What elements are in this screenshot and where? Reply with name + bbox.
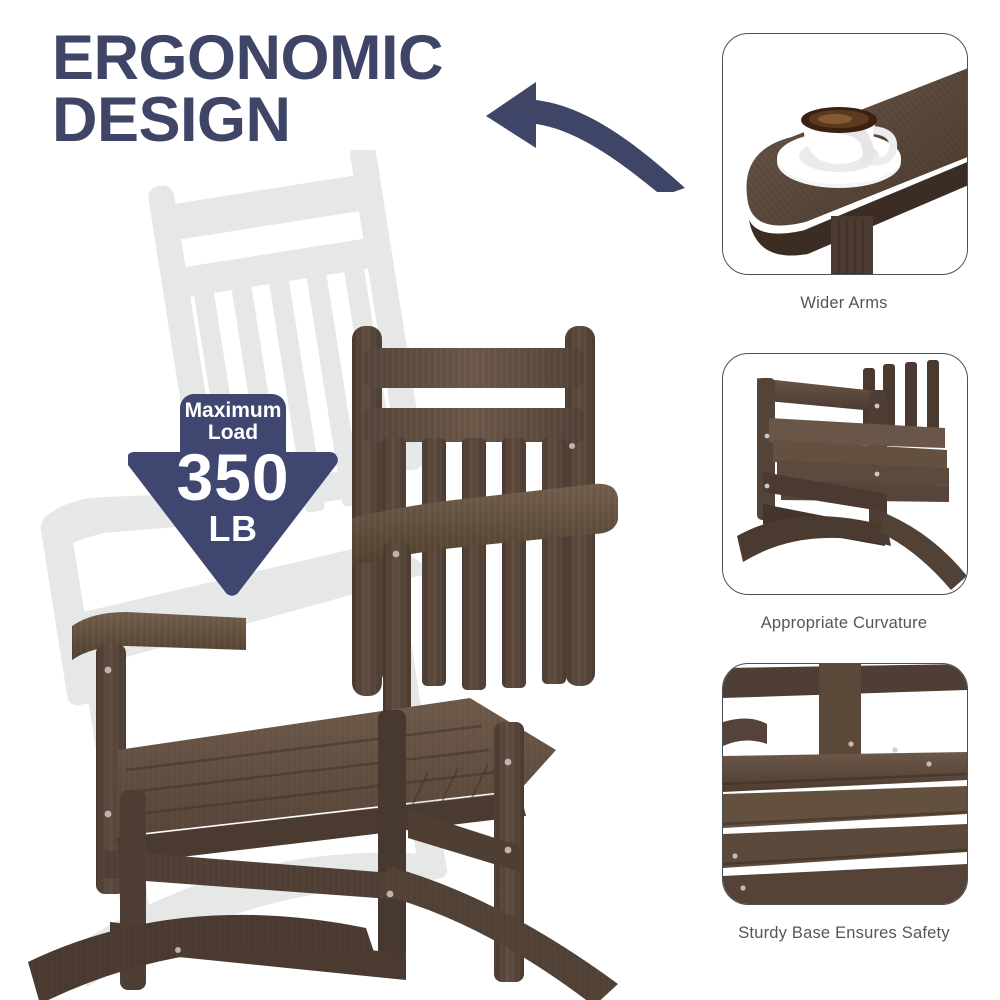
feature-image-sturdy-base xyxy=(722,663,968,905)
infographic-canvas: ERGONOMIC DESIGN Maximum Load 350 LB xyxy=(0,0,1000,1000)
curved-arrow-icon xyxy=(480,72,690,192)
title-line-2: DESIGN xyxy=(52,90,522,152)
hero-image xyxy=(0,150,700,1000)
max-load-badge: Maximum Load 350 LB xyxy=(128,386,338,601)
badge-shape xyxy=(128,386,338,601)
feature-caption-appropriate-curvature: Appropriate Curvature xyxy=(722,614,966,633)
feature-sturdy-base: Sturdy Base Ensures Safety xyxy=(722,663,966,943)
feature-wider-arms: Wider Arms xyxy=(722,33,966,313)
feature-image-wider-arms xyxy=(722,33,968,275)
title-line-1: ERGONOMIC xyxy=(52,28,522,90)
feature-caption-wider-arms: Wider Arms xyxy=(722,294,966,313)
feature-image-appropriate-curvature xyxy=(722,353,968,595)
feature-caption-sturdy-base: Sturdy Base Ensures Safety xyxy=(722,924,966,943)
page-title: ERGONOMIC DESIGN xyxy=(52,28,522,151)
feature-appropriate-curvature: Appropriate Curvature xyxy=(722,353,966,633)
